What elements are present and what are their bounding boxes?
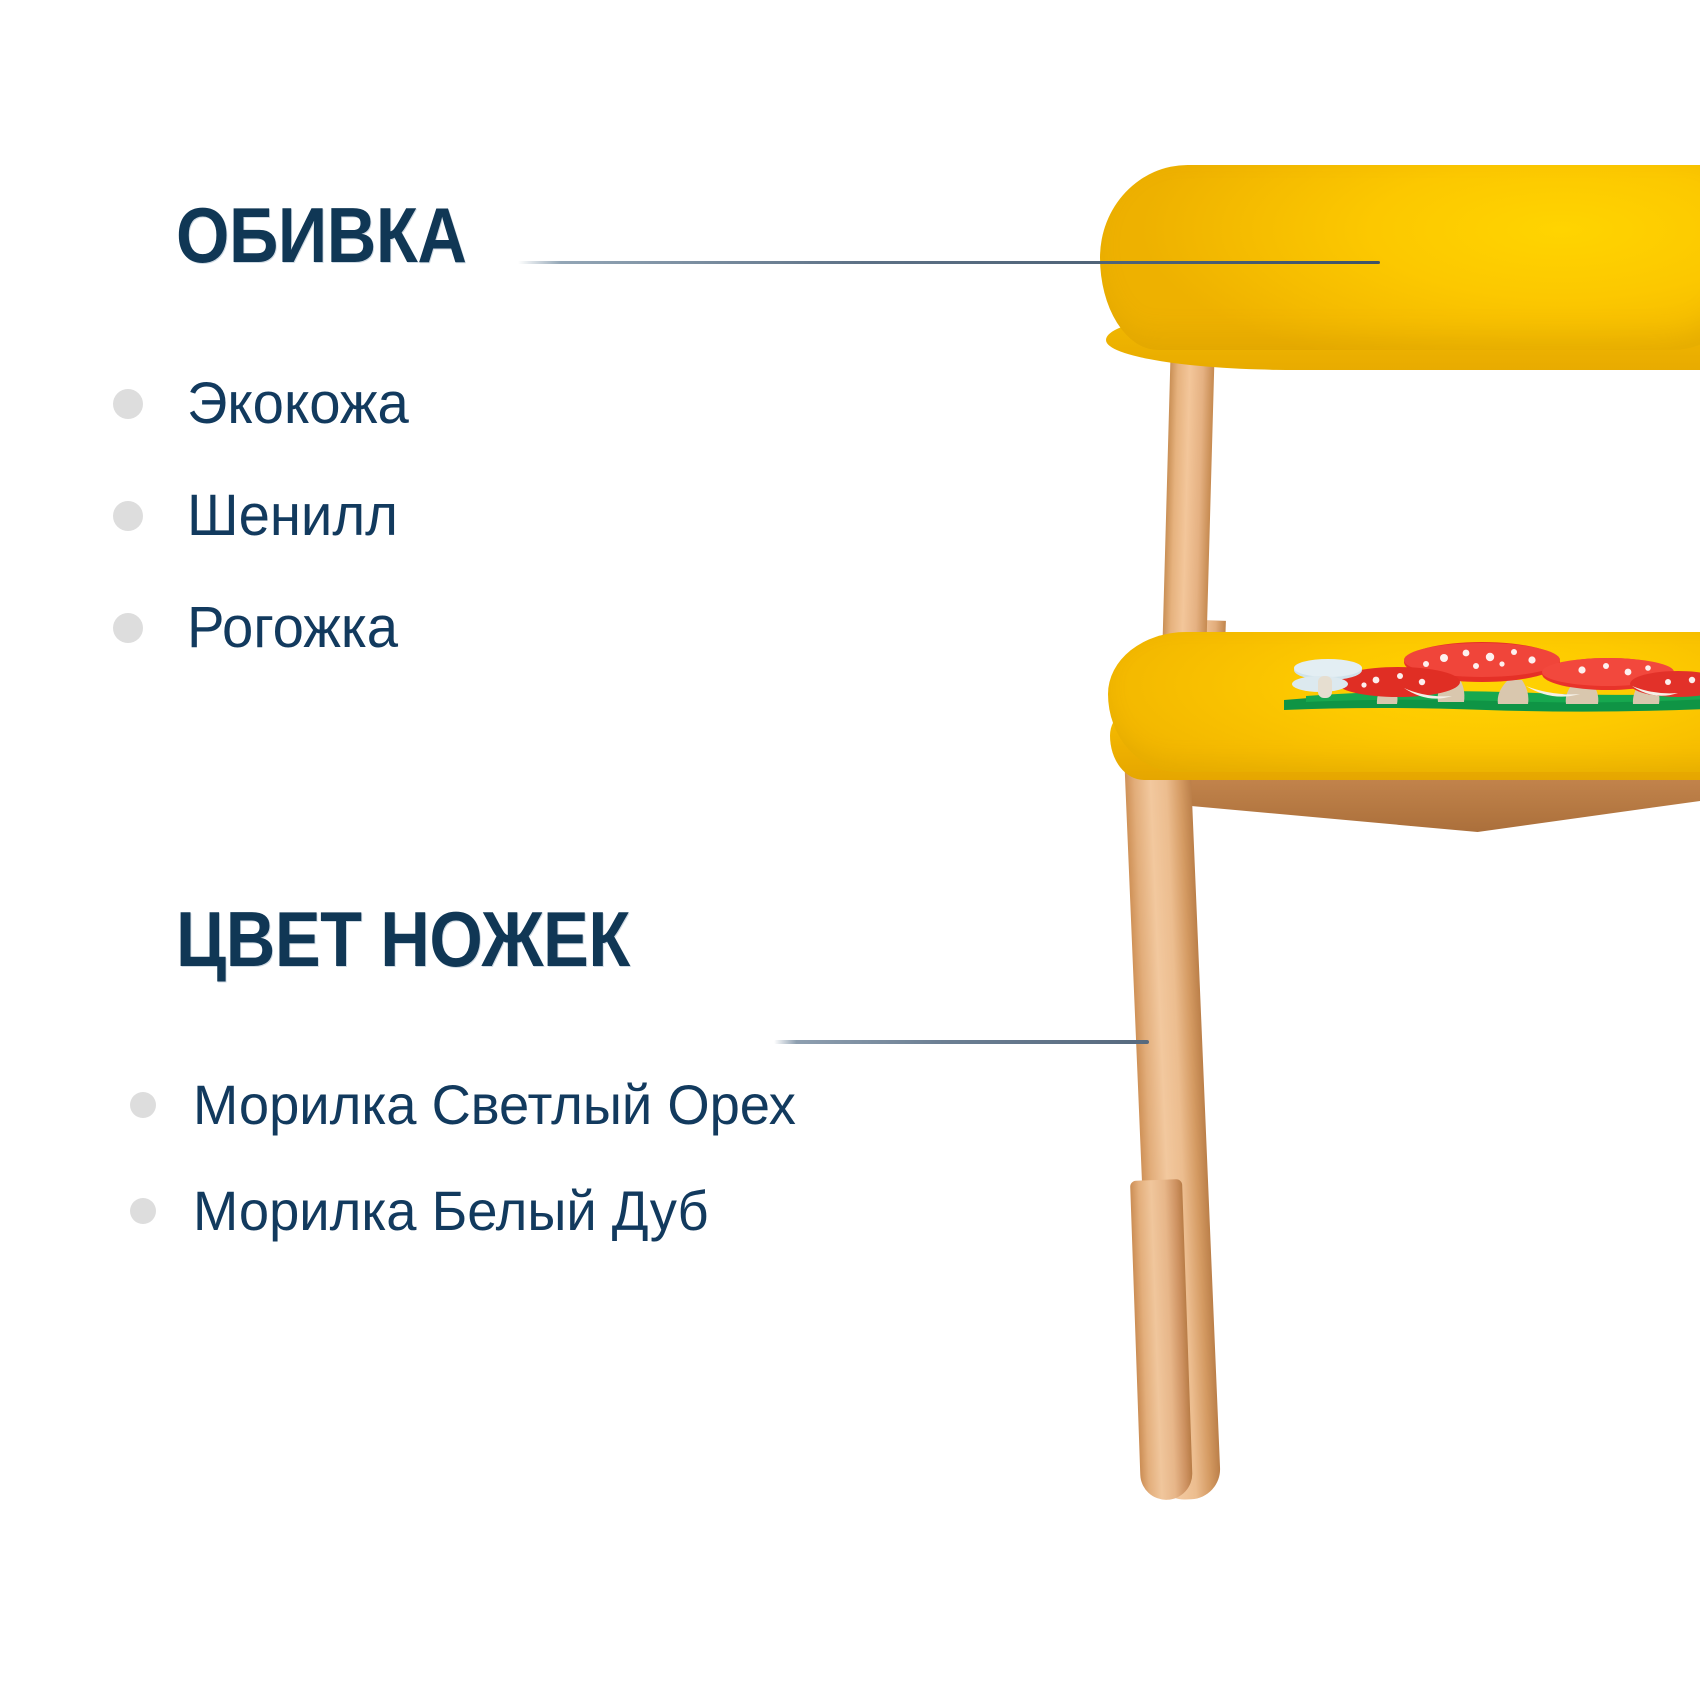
section-heading-upholstery: ОБИВКА xyxy=(176,196,466,274)
list-item: Шенилл xyxy=(0,460,416,572)
leg-color-option-list: Морилка Светлый Орех Морилка Белый Дуб xyxy=(0,1052,815,1264)
chair-front-leg-taper xyxy=(1130,1179,1193,1501)
section-heading-leg-color: ЦВЕТ НОЖЕК xyxy=(176,900,630,978)
infographic-canvas: ОБИВКА Экокожа Шенилл Рогожка ЦВЕТ НОЖЕК… xyxy=(0,0,1700,1700)
upholstery-option-label: Шенилл xyxy=(187,487,398,545)
chair-backrest xyxy=(1100,165,1700,350)
leg-color-option-label: Морилка Светлый Орех xyxy=(193,1077,796,1133)
bullet-dot-icon xyxy=(130,1198,156,1224)
bullet-dot-icon xyxy=(113,389,143,419)
upholstery-option-label: Рогожка xyxy=(187,599,398,657)
list-item: Морилка Белый Дуб xyxy=(0,1158,815,1264)
list-item: Экокожа xyxy=(0,348,416,460)
bullet-dot-icon xyxy=(130,1092,156,1118)
list-item: Морилка Светлый Орех xyxy=(0,1052,815,1158)
seat-mushroom-print xyxy=(1276,640,1700,718)
upholstery-option-label: Экокожа xyxy=(187,375,409,433)
bullet-dot-icon xyxy=(113,613,143,643)
upholstery-option-list: Экокожа Шенилл Рогожка xyxy=(0,348,416,684)
chair-photo xyxy=(1080,0,1700,1700)
leg-color-option-label: Морилка Белый Дуб xyxy=(193,1183,709,1239)
bullet-dot-icon xyxy=(113,501,143,531)
list-item: Рогожка xyxy=(0,572,416,684)
upholstery-leader-line xyxy=(518,261,1380,264)
leg-color-leader-line xyxy=(774,1040,1149,1044)
